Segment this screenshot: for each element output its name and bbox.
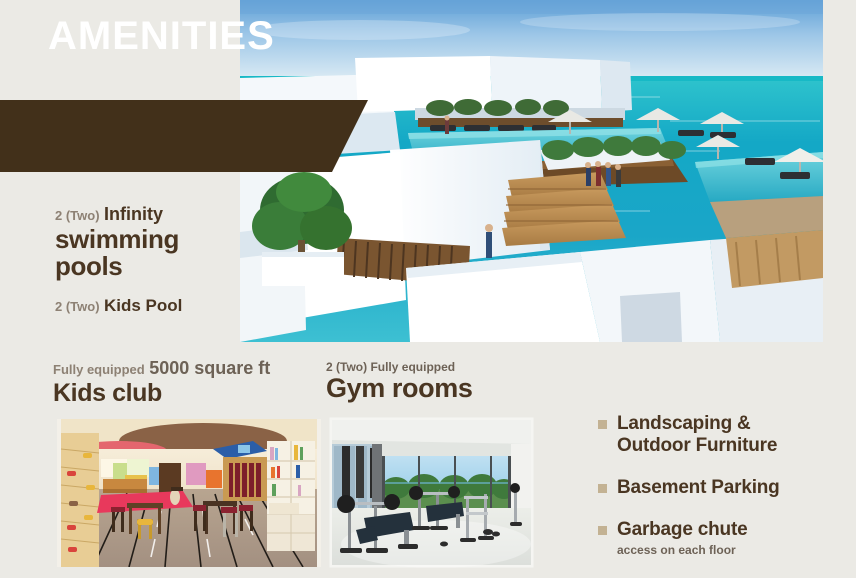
- square-bullet-icon: [598, 526, 607, 535]
- infinity-pools-lead-line: 2 (Two) Infinity: [55, 204, 235, 225]
- gym-prefix: 2 (Two) Fully equipped: [326, 360, 472, 374]
- kids-club-area: 5000 square ft: [149, 358, 270, 378]
- amenities-slide: AMENITIES 2 (Two) Infinity swimming pool…: [0, 0, 856, 578]
- kids-pool-line: 2 (Two) Kids Pool: [55, 296, 235, 316]
- amenities-banner: [0, 100, 368, 172]
- feature-line-1: Basement Parking: [617, 477, 780, 499]
- feature-line-1: Garbage chute: [617, 519, 747, 541]
- infinity-pools-count: 2 (Two): [55, 208, 100, 223]
- kids-pool-count: 2 (Two): [55, 299, 100, 314]
- kids-club-heading: Kids club: [53, 380, 270, 407]
- list-item: Basement Parking: [598, 477, 848, 499]
- infinity-pools-heading-line1: swimming: [55, 226, 235, 252]
- infinity-pools-block: 2 (Two) Infinity swimming pools 2 (Two) …: [55, 204, 235, 316]
- feature-text-group: Landscaping & Outdoor Furniture: [617, 413, 777, 457]
- list-item: Garbage chute access on each floor: [598, 519, 848, 557]
- feature-line-2: Outdoor Furniture: [617, 435, 777, 457]
- feature-list: Landscaping & Outdoor Furniture Basement…: [598, 413, 848, 557]
- square-bullet-icon: [598, 420, 607, 429]
- infinity-pools-heading-line2: pools: [55, 253, 235, 279]
- page-title: AMENITIES: [48, 13, 275, 59]
- kids-club-photo: [53, 415, 325, 571]
- kids-club-prefix: Fully equipped: [53, 362, 145, 377]
- feature-text-group: Basement Parking: [617, 477, 780, 499]
- kids-club-caption: Fully equipped 5000 square ft Kids club: [53, 358, 270, 407]
- feature-line-1: Landscaping &: [617, 413, 777, 435]
- feature-subtext: access on each floor: [617, 543, 747, 557]
- square-bullet-icon: [598, 484, 607, 493]
- feature-text-group: Garbage chute access on each floor: [617, 519, 747, 557]
- kids-pool-label: Kids Pool: [104, 296, 182, 315]
- gym-caption: 2 (Two) Fully equipped Gym rooms: [326, 360, 472, 402]
- gym-heading: Gym rooms: [326, 375, 472, 402]
- infinity-pools-lead: Infinity: [104, 204, 163, 224]
- list-item: Landscaping & Outdoor Furniture: [598, 413, 848, 457]
- gym-photo: [326, 414, 537, 571]
- kids-club-lead-line: Fully equipped 5000 square ft: [53, 358, 270, 379]
